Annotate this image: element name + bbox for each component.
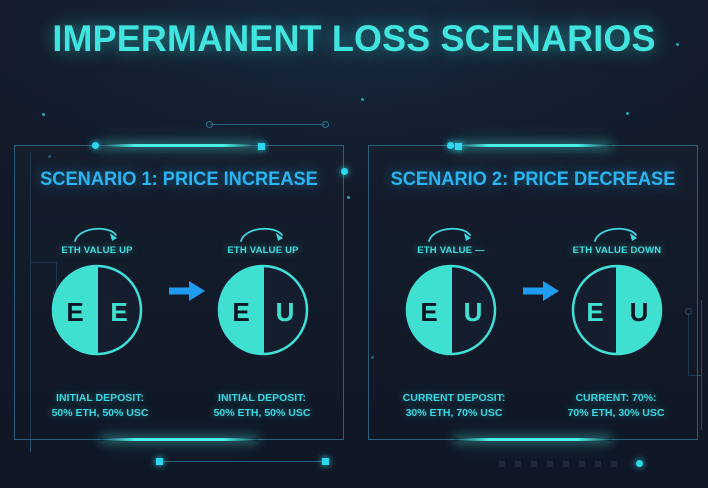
deco-dim-square-8 <box>611 461 617 467</box>
panel-1-right-node <box>341 168 348 175</box>
scenario-2-step-1-caption-line1: CURRENT DEPOSIT: <box>379 391 529 406</box>
token-circle-icon: E U <box>215 262 311 358</box>
panel-2-bottom-glow <box>454 438 611 441</box>
scenario-2-step-2: ETH VALUE DOWN E U <box>557 224 677 358</box>
scenario-panel-1: SCENARIO 1: PRICE INCREASE ETH VALUE UP … <box>14 145 344 440</box>
scenario-1-step-1-right-token: E <box>110 297 127 327</box>
infographic-canvas: IMPERMANENT LOSS SCENARIOS <box>0 0 708 488</box>
token-circle-icon: E E <box>49 262 145 358</box>
scenario-2-step-2-caption-line2: 70% ETH, 30% USC <box>541 406 691 421</box>
deco-dim-square-7 <box>595 461 601 467</box>
deco-ring-top-right <box>322 121 329 128</box>
scenario-2-step-2-caption: CURRENT: 70%: 70% ETH, 30% USC <box>541 391 691 421</box>
token-circle-icon: E U <box>569 262 665 358</box>
deco-dim-square-4 <box>547 461 553 467</box>
scenario-1-step-2-caption: INITIAL DEPOSIT: 50% ETH, 50% USC <box>187 391 337 421</box>
deco-square-bottom-left-a <box>156 458 163 465</box>
deco-dim-square-2 <box>515 461 521 467</box>
deco-ring-top-left <box>206 121 213 128</box>
deco-square-bottom-left-b <box>322 458 329 465</box>
scenario-1-step-1-caption: INITIAL DEPOSIT: 50% ETH, 50% USC <box>25 391 175 421</box>
scenario-2-step-1-right-token: U <box>464 297 483 327</box>
scenario-2-step-1-caption: CURRENT DEPOSIT: 30% ETH, 70% USC <box>379 391 529 421</box>
scenario-2-step-1-value-label: ETH VALUE — <box>391 245 511 256</box>
panel-1-bottom-node <box>258 143 265 150</box>
token-circle-icon: E U <box>403 262 499 358</box>
scenario-2-step-2-value-label: ETH VALUE DOWN <box>557 245 677 256</box>
panel-1-top-node <box>92 142 99 149</box>
deco-dim-square-5 <box>563 461 569 467</box>
deco-line-bottom-left <box>160 461 326 462</box>
panel-1-top-glow <box>100 144 257 147</box>
deco-ambient-dot-4 <box>626 112 629 115</box>
deco-dot-bottom-right <box>636 460 643 467</box>
curved-arrow-icon <box>235 224 291 244</box>
scenario-1-step-1-left-token: E <box>66 297 83 327</box>
scenario-1-step-1: ETH VALUE UP E E <box>37 224 157 358</box>
scenario-2-title: SCENARIO 2: PRICE DECREASE <box>376 169 691 191</box>
curved-arrow-icon <box>69 224 125 244</box>
scenario-2-step-1: ETH VALUE — E U <box>391 224 511 358</box>
scenario-1-step-1-value-label: ETH VALUE UP <box>37 245 157 256</box>
curved-arrow-icon <box>589 224 645 244</box>
panel-2-top-glow <box>454 144 611 147</box>
scenario-1-step-1-caption-line2: 50% ETH, 50% USC <box>25 406 175 421</box>
scenario-2-step-2-right-token: U <box>630 297 649 327</box>
deco-dim-square-6 <box>579 461 585 467</box>
curved-arrow-icon <box>423 224 479 244</box>
scenario-1-step-2-caption-line1: INITIAL DEPOSIT: <box>187 391 337 406</box>
panel-2-bottom-node <box>455 143 462 150</box>
deco-ambient-dot-1 <box>42 113 45 116</box>
scenario-1-step-2-left-token: E <box>232 297 249 327</box>
scenario-2-step-1-caption-line2: 30% ETH, 70% USC <box>379 406 529 421</box>
panel-2-top-node <box>447 142 454 149</box>
deco-dim-square-3 <box>531 461 537 467</box>
scenario-1-steps: ETH VALUE UP E E <box>15 224 343 364</box>
deco-edge-right-vertical <box>701 300 702 430</box>
scenario-1-step-2-value-label: ETH VALUE UP <box>203 245 323 256</box>
deco-ambient-dot-7 <box>347 196 350 199</box>
scenario-1-title: SCENARIO 1: PRICE INCREASE <box>22 169 337 191</box>
deco-ambient-dot-5 <box>361 98 364 101</box>
deco-dim-square-1 <box>499 461 505 467</box>
scenario-1-step-2-right-token: U <box>276 297 295 327</box>
scenario-1-step-2: ETH VALUE UP E U <box>203 224 323 358</box>
scenario-panel-2: SCENARIO 2: PRICE DECREASE ETH VALUE — E… <box>368 145 698 440</box>
deco-line-top <box>210 124 325 125</box>
scenario-2-step-2-caption-line1: CURRENT: 70%: <box>541 391 691 406</box>
page-title: IMPERMANENT LOSS SCENARIOS <box>11 18 698 60</box>
scenario-1-step-2-caption-line2: 50% ETH, 50% USC <box>187 406 337 421</box>
panel-1-bottom-glow <box>100 438 257 441</box>
scenario-2-step-2-left-token: E <box>586 297 603 327</box>
scenario-2-step-1-left-token: E <box>420 297 437 327</box>
scenario-1-step-1-caption-line1: INITIAL DEPOSIT: <box>25 391 175 406</box>
scenario-2-steps: ETH VALUE — E U <box>369 224 697 364</box>
